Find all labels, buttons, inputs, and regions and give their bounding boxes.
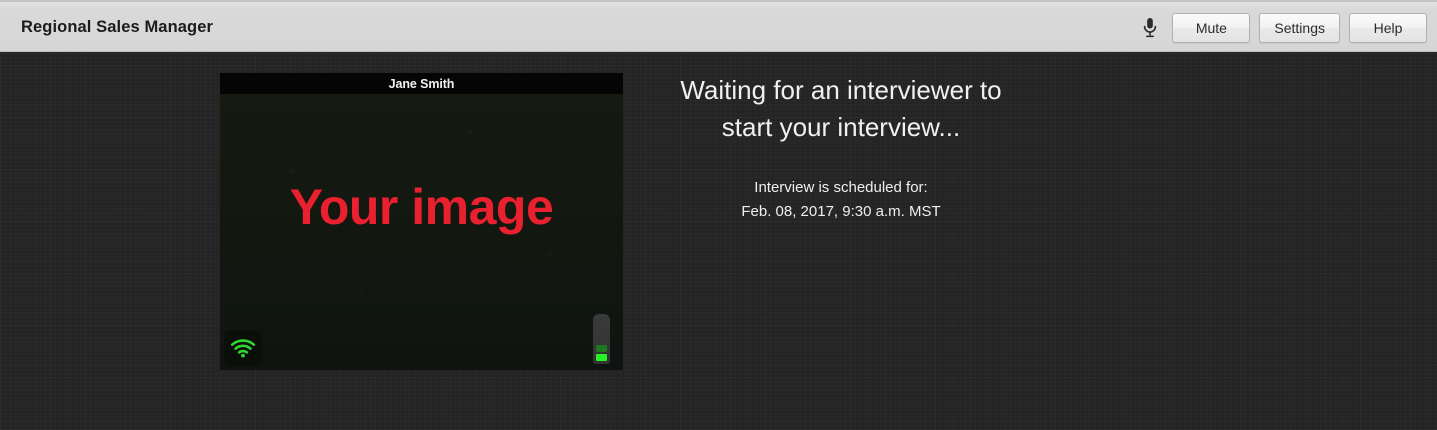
help-button[interactable]: Help <box>1349 13 1427 43</box>
schedule-label: Interview is scheduled for: <box>655 176 1027 200</box>
settings-button[interactable]: Settings <box>1259 13 1340 43</box>
mute-button[interactable]: Mute <box>1172 13 1250 43</box>
meter-bar <box>596 354 607 361</box>
video-feed-area: Your image <box>220 94 623 370</box>
page-title: Regional Sales Manager <box>21 18 213 37</box>
wifi-signal-icon <box>224 330 262 366</box>
microphone-icon[interactable] <box>1139 14 1161 42</box>
header-controls: Mute Settings Help <box>1139 12 1427 44</box>
app-header: Regional Sales Manager Mute Settings Hel… <box>0 0 1437 52</box>
app-root: Regional Sales Manager Mute Settings Hel… <box>0 0 1437 430</box>
local-video-panel[interactable]: Jane Smith Your image <box>220 73 623 370</box>
participant-name-bar: Jane Smith <box>220 73 623 94</box>
schedule-block: Interview is scheduled for: Feb. 08, 201… <box>655 176 1027 223</box>
main-stage: Jane Smith Your image <box>0 52 1437 430</box>
waiting-message-block: Waiting for an interviewer to start your… <box>655 72 1027 223</box>
participant-name-label: Jane Smith <box>389 77 455 91</box>
mic-level-meter-icon <box>593 314 610 364</box>
waiting-headline: Waiting for an interviewer to start your… <box>655 72 1027 146</box>
schedule-value: Feb. 08, 2017, 9:30 a.m. MST <box>655 200 1027 224</box>
your-image-placeholder-text: Your image <box>220 182 623 232</box>
meter-bar <box>596 345 607 352</box>
